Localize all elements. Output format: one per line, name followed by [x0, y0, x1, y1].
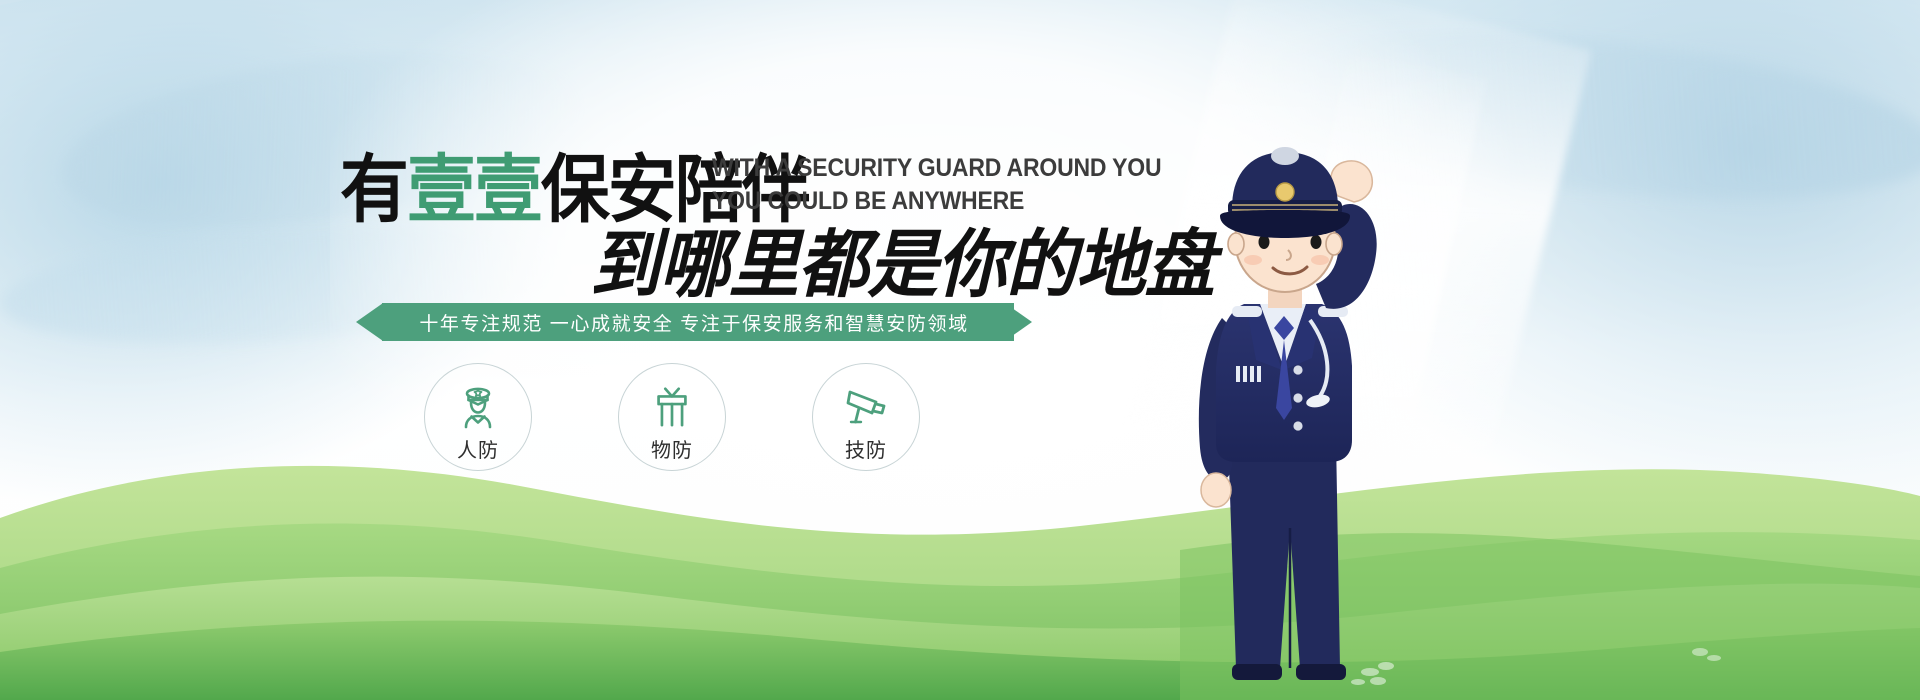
feature-item-wufang[interactable]: 物防: [618, 363, 726, 471]
gift-box-icon: [618, 381, 726, 431]
guard-illustration: [1140, 108, 1440, 700]
feature-label: 人防: [424, 434, 532, 463]
promo-banner: 有壹壹保安陪伴 WITH A SECURITY GUARD AROUND YOU…: [0, 0, 1920, 700]
feature-label: 技防: [812, 434, 920, 463]
feature-list: 人防 物防: [424, 363, 964, 471]
headline-seg-brand: 壹壹: [407, 148, 541, 231]
saluting-security-guard: [1140, 108, 1440, 700]
feature-label: 物防: [618, 434, 726, 463]
english-tagline: WITH A SECURITY GUARD AROUND YOU YOU COU…: [712, 152, 1132, 218]
cctv-camera-icon: [812, 381, 920, 431]
english-line-1: WITH A SECURITY GUARD AROUND YOU: [712, 152, 1098, 185]
banner-content: 有壹壹保安陪伴 WITH A SECURITY GUARD AROUND YOU…: [0, 0, 1920, 700]
tagline-ribbon: 十年专注规范 一心成就安全 专注于保安服务和智慧安防领域: [356, 303, 1032, 341]
ribbon-text: 十年专注规范 一心成就安全 专注于保安服务和智慧安防领域: [356, 303, 1032, 341]
headline-line2-text: 到哪里都是你的地盘: [590, 226, 1214, 304]
police-officer-icon: [424, 381, 532, 431]
english-line-2: YOU COULD BE ANYWHERE: [712, 185, 1098, 218]
headline-seg-1: 有: [340, 148, 407, 231]
feature-item-jifang[interactable]: 技防: [812, 363, 920, 471]
feature-item-renfang[interactable]: 人防: [424, 363, 532, 471]
